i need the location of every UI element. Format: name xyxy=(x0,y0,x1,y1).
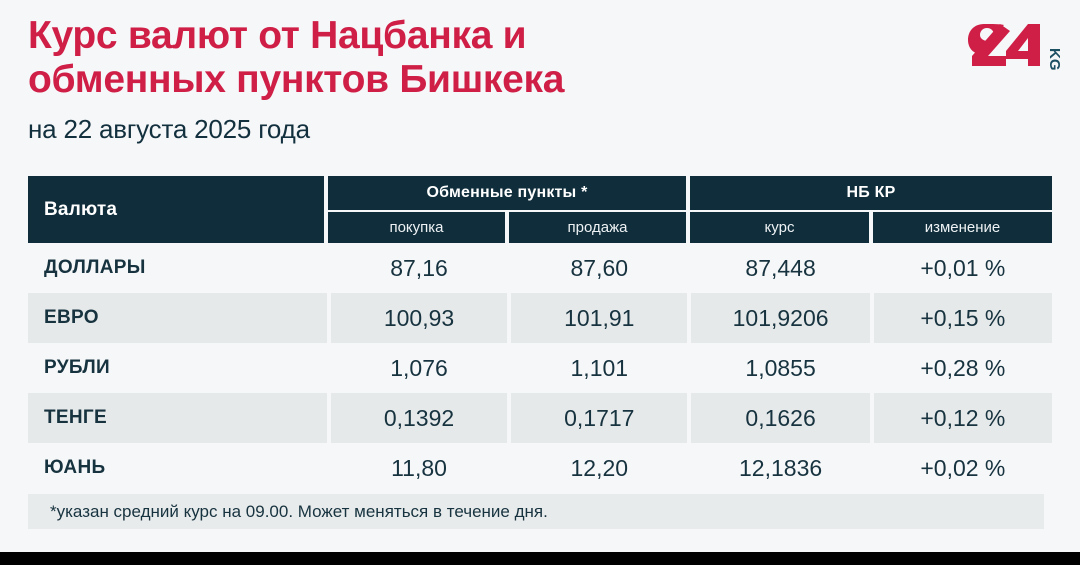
nbkr-rate-cell: 12,1836 xyxy=(691,443,869,493)
buy-rate-cell: 100,93 xyxy=(331,293,507,343)
column-header-sell: продажа xyxy=(509,212,686,243)
buy-rate-cell: 0,1392 xyxy=(331,393,507,443)
sell-rate-cell: 0,1717 xyxy=(511,393,687,443)
column-header-buy: покупка xyxy=(328,212,505,243)
group-header-exchange: Обменные пункты * xyxy=(328,176,686,210)
group-header-nbkr: НБ КР xyxy=(690,176,1052,210)
sell-rate-cell: 87,60 xyxy=(511,243,687,293)
currency-name-cell: ЕВРО xyxy=(28,293,327,343)
page-subtitle: на 22 августа 2025 года xyxy=(28,114,1052,144)
table-row: ЕВРО100,93101,91101,9206+0,15 % xyxy=(28,293,1052,343)
page-title-line-1: Курс валют от Нацбанка и xyxy=(28,14,708,58)
buy-rate-cell: 1,076 xyxy=(331,343,507,393)
table-row: ДОЛЛАРЫ87,1687,6087,448+0,01 % xyxy=(28,243,1052,293)
table-row: ЮАНЬ11,8012,2012,1836+0,02 % xyxy=(28,443,1052,493)
bottom-bar xyxy=(0,552,1080,565)
nbkr-rate-cell: 87,448 xyxy=(691,243,869,293)
sell-rate-cell: 1,101 xyxy=(511,343,687,393)
currency-name-cell: РУБЛИ xyxy=(28,343,327,393)
change-cell: +0,02 % xyxy=(874,443,1052,493)
change-cell: +0,28 % xyxy=(874,343,1052,393)
buy-rate-cell: 11,80 xyxy=(331,443,507,493)
sell-rate-cell: 101,91 xyxy=(511,293,687,343)
change-cell: +0,15 % xyxy=(874,293,1052,343)
24kg-logo: KG xyxy=(966,18,1062,82)
change-cell: +0,01 % xyxy=(874,243,1052,293)
table-header: Валюта Обменные пункты * НБ КР покупка п… xyxy=(28,176,1052,243)
column-header-groups: Обменные пункты * НБ КР покупка продажа … xyxy=(328,176,1052,243)
nbkr-rate-cell: 1,0855 xyxy=(691,343,869,393)
table-body: ДОЛЛАРЫ87,1687,6087,448+0,01 %ЕВРО100,93… xyxy=(28,243,1052,493)
page-title-line-2: обменных пунктов Бишкека xyxy=(28,58,708,102)
column-header-change: изменение xyxy=(873,212,1052,243)
table-row: ТЕНГЕ0,13920,17170,1626+0,12 % xyxy=(28,393,1052,443)
subcolumn-header-row: покупка продажа курс изменение xyxy=(328,210,1052,243)
page-title: Курс валют от Нацбанка и обменных пункто… xyxy=(28,14,708,102)
table-row: РУБЛИ1,0761,1011,0855+0,28 % xyxy=(28,343,1052,393)
sell-rate-cell: 12,20 xyxy=(511,443,687,493)
column-header-rate: курс xyxy=(690,212,869,243)
column-header-currency: Валюта xyxy=(28,176,324,243)
currency-name-cell: ТЕНГЕ xyxy=(28,393,327,443)
currency-table: Валюта Обменные пункты * НБ КР покупка п… xyxy=(28,176,1052,529)
currency-name-cell: ДОЛЛАРЫ xyxy=(28,243,327,293)
page-header: Курс валют от Нацбанка и обменных пункто… xyxy=(28,14,1052,144)
infographic-page: Курс валют от Нацбанка и обменных пункто… xyxy=(0,0,1080,565)
nbkr-rate-cell: 0,1626 xyxy=(691,393,869,443)
logo-icon: KG xyxy=(966,18,1062,82)
currency-name-cell: ЮАНЬ xyxy=(28,443,327,493)
nbkr-rate-cell: 101,9206 xyxy=(691,293,869,343)
table-footnote: *указан средний курс на 09.00. Может мен… xyxy=(28,494,1044,529)
change-cell: +0,12 % xyxy=(874,393,1052,443)
group-header-row: Обменные пункты * НБ КР xyxy=(328,176,1052,210)
buy-rate-cell: 87,16 xyxy=(331,243,507,293)
svg-text:KG: KG xyxy=(1046,48,1062,71)
